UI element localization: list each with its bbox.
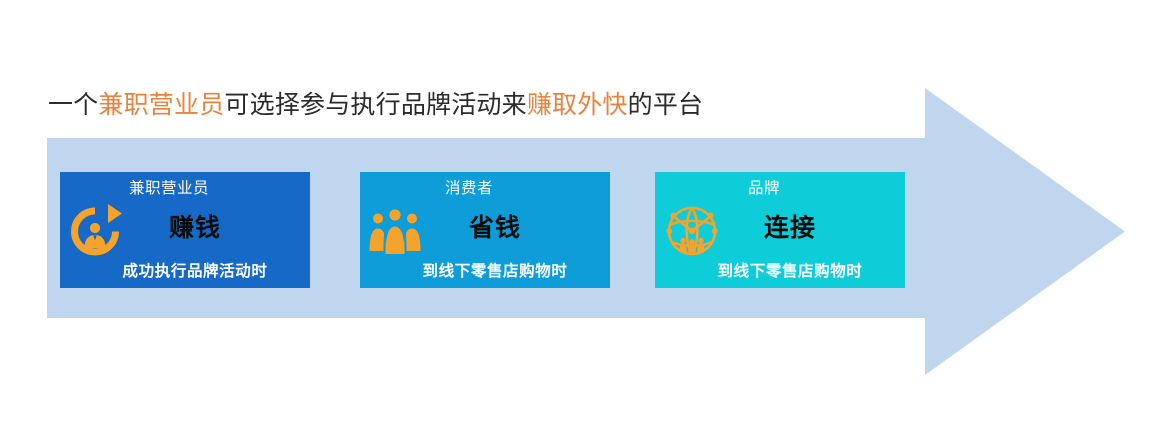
card-consumer-main-text: 省钱: [370, 212, 620, 244]
title-segment-4-accent: 赚取外快: [527, 91, 628, 119]
slide-canvas: 一个兼职营业员可选择参与执行品牌活动来赚取外快的平台 兼职营业员 赚钱 成功执行…: [0, 0, 1150, 430]
page-title: 一个兼职营业员可选择参与执行品牌活动来赚取外快的平台: [48, 89, 703, 121]
card-consumer[interactable]: 消费者 省钱 到线下零售店购物时: [360, 172, 610, 288]
card-consumer-footer: 到线下零售店购物时: [370, 262, 620, 282]
card-worker-main-text: 赚钱: [70, 212, 320, 244]
card-worker-footer: 成功执行品牌活动时: [70, 262, 320, 282]
card-brand-footer: 到线下零售店购物时: [665, 262, 915, 282]
title-segment-3: 可选择参与执行品牌活动来: [224, 91, 526, 119]
card-brand-main-text: 连接: [665, 212, 915, 244]
card-brand-header: 品牌: [639, 179, 889, 199]
title-segment-1: 一个: [48, 91, 98, 119]
card-brand[interactable]: 品牌: [655, 172, 905, 288]
card-worker[interactable]: 兼职营业员 赚钱 成功执行品牌活动时: [60, 172, 310, 288]
card-worker-header: 兼职营业员: [44, 179, 294, 199]
card-consumer-header: 消费者: [344, 179, 594, 199]
title-segment-2-accent: 兼职营业员: [98, 91, 224, 119]
title-segment-5: 的平台: [628, 91, 704, 119]
